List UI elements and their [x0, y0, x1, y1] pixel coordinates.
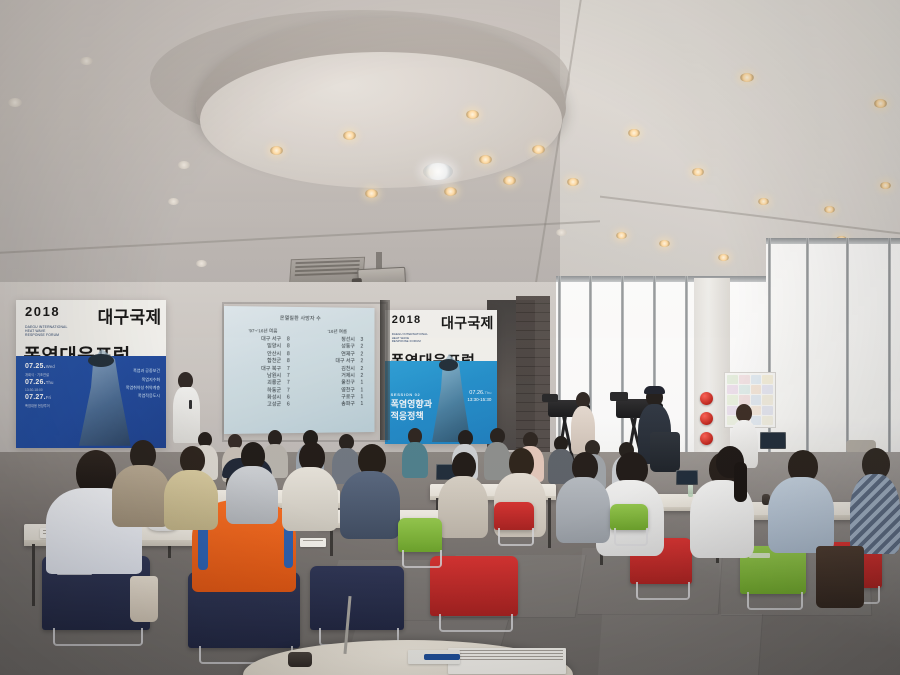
downlight-icon: [365, 189, 378, 198]
screen-shadow-edge: [380, 300, 390, 440]
staff-laptop: [760, 432, 786, 449]
downlight-icon: [8, 98, 22, 107]
person-body: [556, 477, 610, 543]
downlight-icon: [692, 168, 704, 176]
banner-session-block: SESSION 02 폭염영향과 적응정책: [391, 392, 432, 422]
audience-front-right-3: [768, 450, 834, 550]
chair-red[interactable]: [494, 502, 534, 530]
blue-marker: [424, 654, 460, 660]
person-body: [226, 466, 278, 524]
audience-member: [340, 444, 400, 536]
table-leg: [548, 498, 551, 548]
presenter-microphone: [189, 400, 192, 409]
person-body: [402, 442, 428, 478]
chair-green[interactable]: [610, 504, 648, 530]
banner-session-title-1: 폭염영향과: [391, 399, 432, 409]
downlight-icon: [659, 240, 670, 247]
ceiling-bulkhead-face: [200, 52, 562, 188]
banner-session-tag: SESSION 02: [391, 392, 432, 397]
chair-green[interactable]: [398, 518, 442, 552]
downlight-icon: [556, 229, 567, 236]
slide-left-header: '97~'16년 여름: [228, 328, 298, 335]
banner-korean-title-top: 대구국제: [98, 303, 162, 328]
banner-korean-title-top: 대구국제: [441, 313, 494, 333]
person-cap-icon: [644, 386, 665, 394]
downlight-icon: [740, 73, 754, 82]
window-mullion: [806, 238, 809, 478]
audience-member: [402, 428, 428, 476]
chair-red[interactable]: [430, 556, 518, 616]
slide-column-left: '97~'16년 여름 대구 서구8 밀양시8 안산시8 합천군8 대구 북구7…: [228, 328, 298, 410]
downlight-icon: [178, 161, 190, 169]
slide-right-header: '16년 여름: [303, 329, 370, 335]
window-header-rail: [766, 238, 900, 244]
audience-member: [164, 446, 218, 526]
alarm-light-icon: [700, 412, 713, 425]
banner-topic-list: 폭염과 공중보건 폭염지수화 폭염취약성 취약계층 폭염적응도시: [126, 367, 160, 401]
banner-session-title-2: 적응정책: [391, 411, 424, 421]
slide-row: 김천시2: [303, 366, 370, 373]
downlight-icon: [628, 129, 640, 137]
handout-paper: [300, 538, 326, 547]
slide-row: 합천군8: [228, 358, 298, 365]
downlight-icon: [444, 187, 457, 196]
window-mullion: [685, 276, 688, 476]
chair-navy[interactable]: [310, 566, 404, 630]
downlight-icon-bright: [423, 163, 453, 180]
slide-row: 대구 북구7: [228, 366, 298, 373]
ponytail-icon: [734, 462, 747, 502]
downlight-icon: [503, 176, 516, 185]
banner-figure-head: [439, 359, 458, 371]
person-body: [282, 467, 338, 531]
window-mullion: [888, 238, 891, 478]
banner-year: 2018: [25, 304, 60, 319]
downlight-icon: [80, 57, 93, 65]
laptop-screen: [761, 433, 785, 448]
banner-year: 2018: [392, 314, 422, 326]
slide-row: 송파구1: [303, 401, 370, 409]
slide-row: 대구 서구2: [303, 358, 370, 365]
banner-english: DAEGU INTERNATIONAL HEAT WAVE RESPONSE F…: [392, 333, 428, 343]
alarm-light-icon: [700, 392, 713, 405]
table-leg: [32, 544, 35, 606]
banner-dates: 07.25.Wed 개회식 · 기조연설 07.26.Thu 13:30-18:…: [25, 362, 55, 409]
downlight-icon: [874, 99, 887, 108]
audience-member: [438, 452, 488, 536]
banner-figure-head: [88, 354, 114, 367]
downlight-icon: [168, 198, 179, 205]
conference-room-photo: 2018 DAEGU INTERNATIONAL HEAT WAVE RESPO…: [0, 0, 900, 675]
person-body: [768, 477, 834, 553]
downlight-icon: [758, 198, 769, 205]
floor-tile: [598, 614, 763, 675]
downlight-icon: [532, 145, 545, 154]
backpack: [816, 546, 864, 608]
audience-member: [112, 440, 170, 524]
banner-session-datetime: 07.26.Thu 13:30-15:30: [467, 389, 491, 404]
alarm-light-icon: [700, 432, 713, 445]
projection-screen: 온열질환 사망자 수 '97~'16년 여름 대구 서구8 밀양시8 안산시8 …: [224, 306, 375, 434]
person-body: [340, 471, 400, 539]
audience-member: [226, 442, 278, 520]
audience-ponytail: [700, 446, 756, 542]
audience-front-right-4: [850, 448, 900, 550]
person-body: [112, 465, 170, 527]
paper-cup: [288, 652, 312, 667]
banner-english: DAEGU INTERNATIONAL HEAT WAVE RESPONSE F…: [25, 326, 67, 338]
downlight-icon: [824, 206, 835, 213]
person-body: [164, 470, 218, 530]
downlight-icon: [880, 182, 891, 189]
audience-member: [282, 442, 338, 528]
audience-member: [556, 452, 610, 540]
slide-title: 온열질환 사망자 수: [224, 314, 375, 323]
person-body: [438, 476, 488, 538]
handbag: [130, 576, 158, 622]
downlight-icon: [466, 110, 479, 119]
window-wall-far-right: [766, 238, 900, 478]
person-body: [850, 474, 900, 554]
downlight-icon: [567, 178, 579, 186]
downlight-icon: [616, 232, 627, 239]
slide-column-right: '16년 여름 정선시3 성동구2 연제구2 대구 서구2 김천시2 거제시2 …: [303, 329, 370, 409]
program-booklet: [448, 648, 566, 674]
slide-row: 고성군6: [228, 402, 298, 410]
camera-viewfinder: [610, 392, 628, 401]
forum-banner-right: 2018 DAEGU INTERNATIONAL HEAT WAVE RESPO…: [385, 310, 497, 444]
camera-viewfinder: [542, 394, 558, 402]
downlight-icon: [479, 155, 492, 164]
downlight-icon: [196, 260, 207, 267]
downlight-icon: [343, 131, 356, 140]
downlight-icon: [718, 254, 729, 261]
forum-banner-left: 2018 DAEGU INTERNATIONAL HEAT WAVE RESPO…: [16, 300, 166, 448]
downlight-icon: [270, 146, 283, 155]
